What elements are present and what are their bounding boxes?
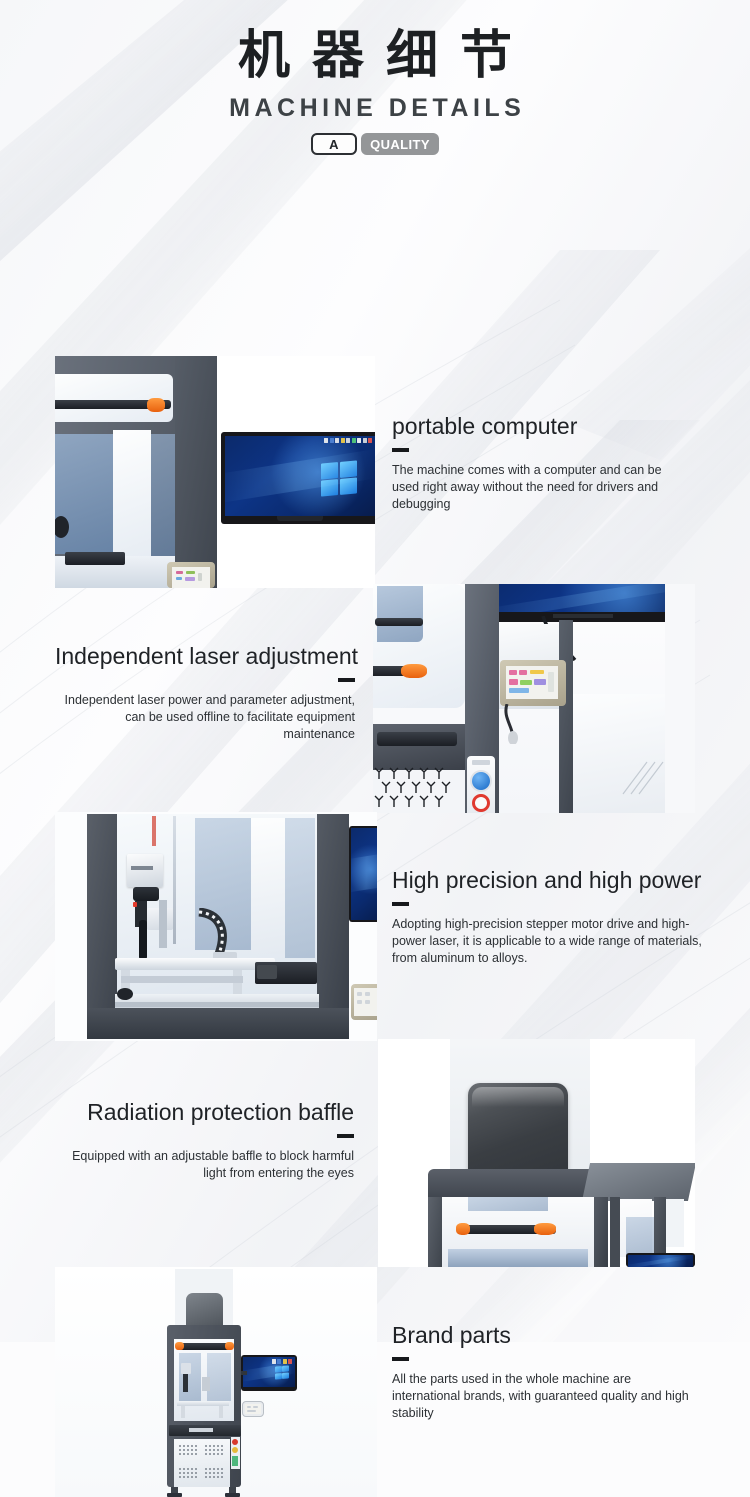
badge-quality-label: QUALITY <box>361 133 439 155</box>
feature-image-high-precision <box>55 812 377 1041</box>
hmi-screen <box>506 666 558 699</box>
title-underline <box>392 1357 409 1361</box>
feature-description: The machine comes with a computer and ca… <box>392 462 692 514</box>
feature-copy-laser-adjustment: Independent laser adjustment Independent… <box>55 643 355 743</box>
product-detail-page: 机器细节 MACHINE DETAILS A QUALITY <box>0 0 750 1342</box>
feature-description: All the parts used in the whole machine … <box>392 1371 700 1423</box>
title-underline <box>338 678 355 682</box>
feature-copy-portable-computer: portable computer The machine comes with… <box>392 413 692 513</box>
title-underline <box>392 448 409 452</box>
windows-logo-icon <box>321 461 357 497</box>
feature-title: Independent laser adjustment <box>55 643 355 671</box>
quality-badge: A QUALITY <box>0 133 750 155</box>
feature-title: High precision and high power <box>392 867 704 895</box>
feature-copy-radiation-baffle: Radiation protection baffle Equipped wit… <box>58 1099 354 1182</box>
page-header: 机器细节 MACHINE DETAILS A QUALITY <box>0 0 750 155</box>
badge-grade-a: A <box>311 133 357 155</box>
title-underline <box>392 902 409 906</box>
page-title-en: MACHINE DETAILS <box>0 94 750 123</box>
page-title-cn: 机器细节 <box>0 26 750 86</box>
feature-image-laser-adjustment <box>373 584 695 813</box>
feature-title: Brand parts <box>392 1322 700 1350</box>
feature-description: Equipped with an adjustable baffle to bl… <box>58 1148 354 1183</box>
title-underline <box>337 1134 354 1138</box>
feature-image-radiation-baffle <box>378 1039 695 1267</box>
feature-title: Radiation protection baffle <box>58 1099 354 1127</box>
feature-image-portable-computer <box>55 356 375 588</box>
taskbar-icons <box>324 438 372 443</box>
feature-description: Independent laser power and parameter ad… <box>55 692 355 744</box>
feature-description: Adopting high-precision stepper motor dr… <box>392 916 704 968</box>
feature-copy-high-precision: High precision and high power Adopting h… <box>392 867 704 967</box>
feature-image-brand-parts <box>55 1267 377 1497</box>
feature-title: portable computer <box>392 413 692 441</box>
feature-copy-brand-parts: Brand parts All the parts used in the wh… <box>392 1322 700 1422</box>
monitor-screen <box>225 436 375 516</box>
